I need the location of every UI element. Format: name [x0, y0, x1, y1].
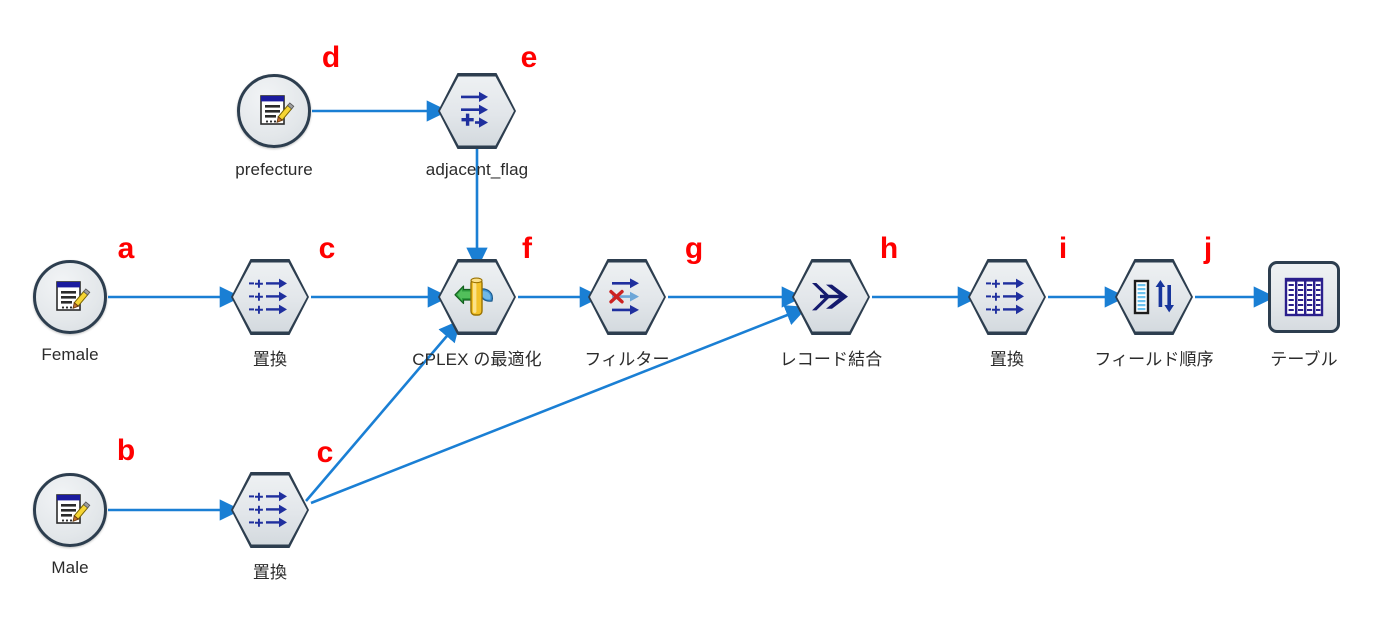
reclassify-node-shape[interactable] [231, 259, 309, 335]
annotation-tag-e: e [521, 43, 538, 73]
stream-canvas[interactable]: Female [0, 0, 1391, 625]
node-label-table: テーブル [1270, 345, 1337, 370]
source-node-shape[interactable] [33, 260, 107, 334]
field-reorder-node-shape[interactable] [1115, 259, 1193, 335]
annotation-tag-j: j [1204, 234, 1212, 264]
node-label-adjacent-flag: adjacent_flag [426, 160, 528, 180]
source-node-shape[interactable] [237, 74, 311, 148]
node-label-female: Female [41, 345, 98, 365]
node-label-male-reclassify: 置換 [253, 558, 287, 583]
annotation-tag-c2: c [317, 438, 334, 468]
annotation-tag-h: h [880, 234, 898, 264]
derive-node-shape[interactable] [438, 73, 516, 149]
annotation-tag-f: f [522, 234, 532, 264]
node-label-cplex: CPLEX の最適化 [412, 345, 541, 370]
annotation-tag-g: g [685, 234, 703, 264]
annotation-tag-b: b [117, 436, 135, 466]
append-node-shape[interactable] [792, 259, 870, 335]
node-label-filter: フィルター [584, 345, 669, 370]
reclassify-node-shape[interactable] [968, 259, 1046, 335]
reclassify-node-shape[interactable] [231, 472, 309, 548]
node-label-prefecture: prefecture [235, 160, 313, 180]
node-label-field-reorder: フィールド順序 [1094, 345, 1213, 370]
annotation-tag-a: a [118, 234, 135, 264]
annotation-tag-d: d [322, 43, 340, 73]
node-label-female-reclassify: 置換 [253, 345, 287, 370]
filter-node-shape[interactable] [588, 259, 666, 335]
source-node-shape[interactable] [33, 473, 107, 547]
wire-male-reclassify-to-append [311, 312, 795, 503]
annotation-tag-c1: c [319, 234, 336, 264]
node-label-record-append: レコード結合 [780, 345, 883, 370]
annotation-tag-i: i [1059, 234, 1067, 264]
node-label-append-reclassify: 置換 [990, 345, 1024, 370]
node-label-male: Male [51, 558, 88, 578]
table-node-shape[interactable] [1268, 261, 1340, 333]
cplex-node-shape[interactable] [438, 259, 516, 335]
